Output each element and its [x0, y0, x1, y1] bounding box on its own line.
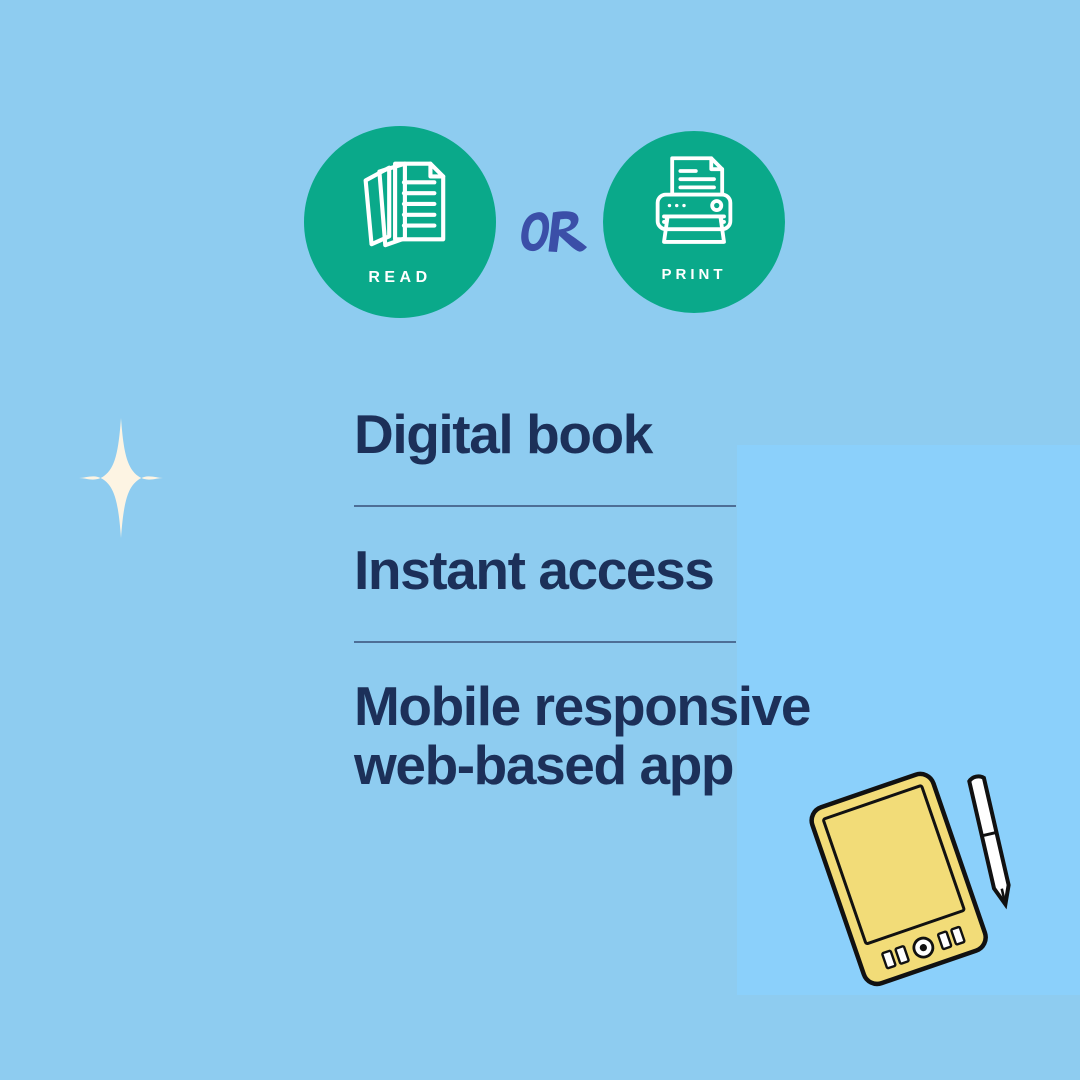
feature-item-digital-book: Digital book — [354, 405, 874, 464]
feature-list: Digital book Instant access Mobile respo… — [354, 405, 874, 794]
badge-print[interactable]: PRINT — [603, 131, 785, 313]
documents-stack-icon — [346, 148, 454, 261]
badge-print-label: PRINT — [662, 266, 727, 283]
printer-icon — [644, 151, 744, 256]
badge-read[interactable]: READ — [304, 126, 496, 318]
spacer — [354, 464, 874, 505]
feature-item-mobile-responsive: Mobile responsive web-based app — [354, 677, 874, 795]
badge-read-label: READ — [368, 269, 431, 287]
spacer — [354, 600, 874, 641]
feature-item-instant-access: Instant access — [354, 541, 874, 600]
promo-graphic: READ — [0, 0, 1080, 1080]
feature-title: Mobile responsive web-based app — [354, 677, 874, 795]
or-separator-label — [517, 205, 591, 265]
spacer — [354, 507, 874, 541]
feature-title: Digital book — [354, 405, 874, 464]
feature-title: Instant access — [354, 541, 874, 600]
four-point-sparkle-icon — [78, 418, 164, 538]
tablet-ereader-icon — [800, 756, 1032, 992]
spacer — [354, 643, 874, 677]
